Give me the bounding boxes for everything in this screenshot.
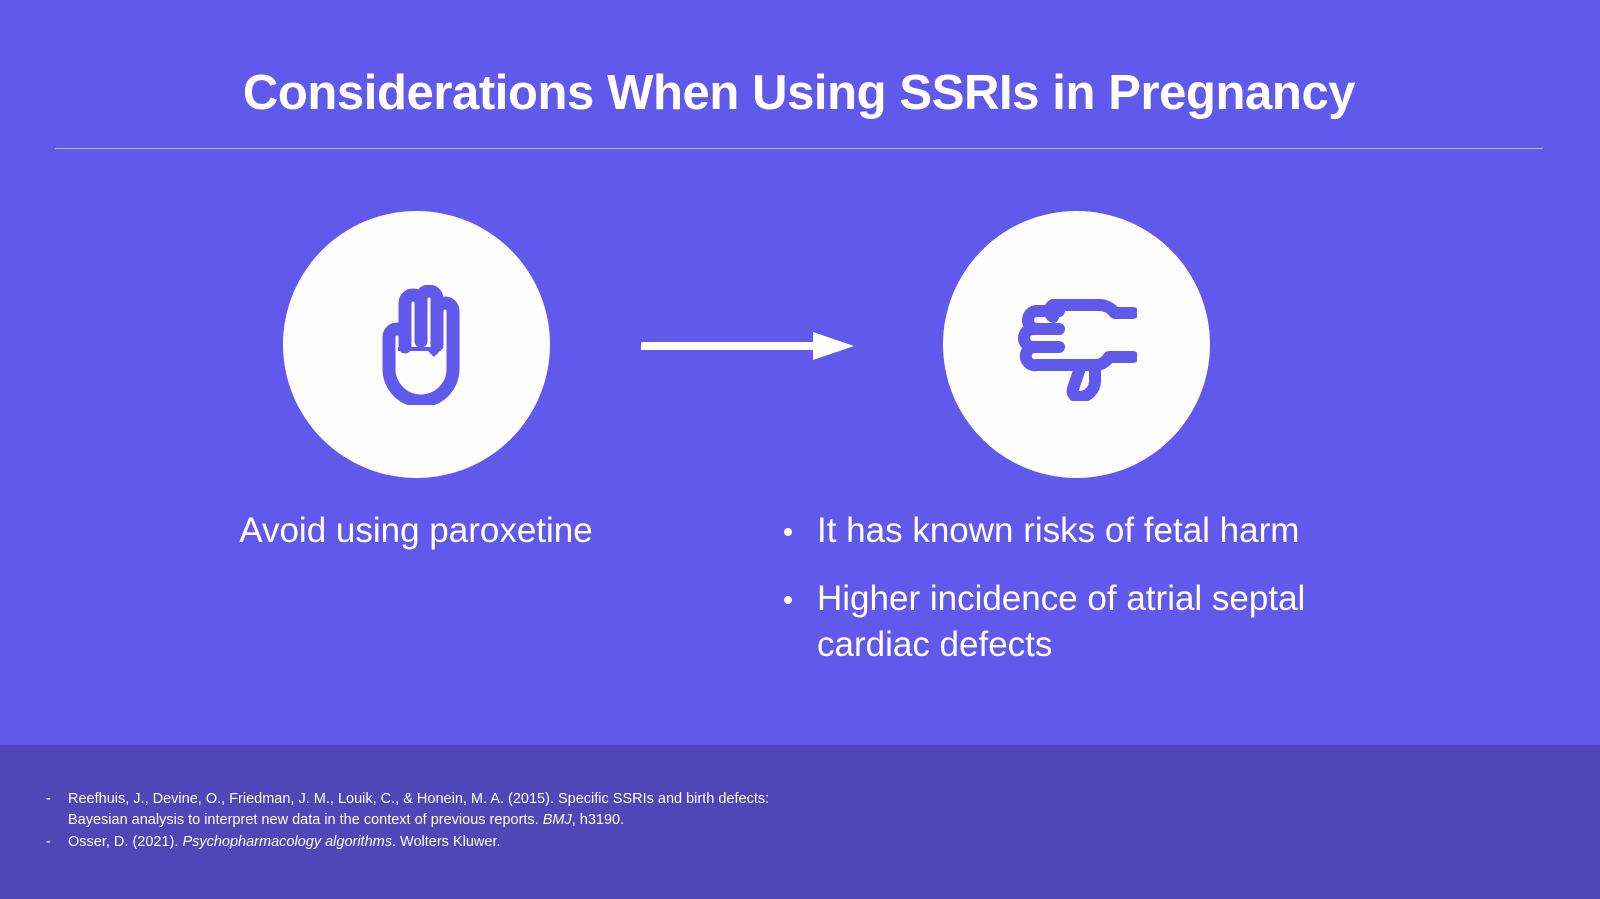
right-icon-circle [943, 211, 1210, 478]
list-item: It has known risks of fetal harm [775, 508, 1417, 554]
reference-text: Osser, D. (2021). Psychopharmacology alg… [68, 832, 806, 853]
reference-item: - Reefhuis, J., Devine, O., Friedman, J.… [46, 789, 806, 831]
page-title: Considerations When Using SSRIs in Pregn… [55, 64, 1543, 123]
slide: Considerations When Using SSRIs in Pregn… [0, 0, 1600, 899]
reference-list: - Reefhuis, J., Devine, O., Friedman, J.… [46, 789, 806, 854]
thumbs-down-icon [1017, 289, 1137, 401]
reference-text: Reefhuis, J., Devine, O., Friedman, J. M… [68, 789, 806, 831]
left-icon-circle [283, 211, 550, 478]
left-caption: Avoid using paroxetine [150, 509, 682, 553]
list-item: Higher incidence of atrial septal cardia… [775, 576, 1417, 668]
reference-marker: - [46, 789, 68, 810]
right-column: It has known risks of fetal harm Higher … [775, 211, 1475, 691]
reference-item: - Osser, D. (2021). Psychopharmacology a… [46, 832, 806, 853]
right-bullet-list: It has known risks of fetal harm Higher … [775, 508, 1475, 669]
title-divider [55, 148, 1543, 149]
reference-marker: - [46, 832, 68, 853]
raised-hand-icon [362, 285, 472, 405]
left-column: Avoid using paroxetine [150, 211, 682, 553]
footer-bar: - Reefhuis, J., Devine, O., Friedman, J.… [0, 745, 1600, 899]
